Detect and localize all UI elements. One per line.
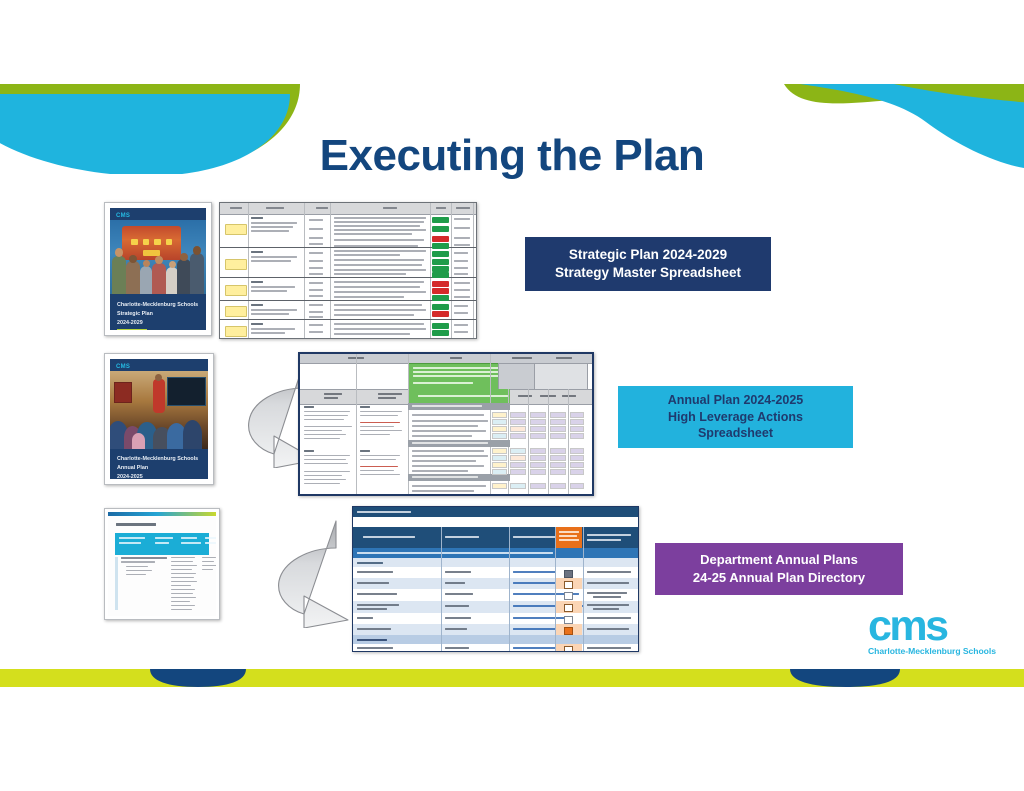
callout-department-plans: Department Annual Plans 24-25 Annual Pla… bbox=[655, 543, 903, 595]
cms-logo-tagline: Charlotte-Mecklenburg Schools bbox=[868, 646, 1008, 656]
callout-department-line1: Department Annual Plans bbox=[693, 551, 865, 569]
cover-photo-classroom bbox=[110, 371, 208, 449]
arrow-annual-to-directory bbox=[258, 518, 364, 628]
sheet2-green-header bbox=[408, 363, 510, 391]
directory-doc-table-header bbox=[115, 533, 209, 555]
strategy-master-spreadsheet bbox=[219, 202, 477, 339]
cms-logo: cms Charlotte-Mecklenburg Schools bbox=[868, 608, 1008, 662]
callout-annual-line1: Annual Plan 2024-2025 bbox=[668, 392, 803, 409]
directory-checkbox-icon[interactable] bbox=[564, 604, 573, 612]
slide-title: Executing the Plan bbox=[0, 131, 1024, 181]
cms-logo-wordmark: cms bbox=[868, 608, 1008, 645]
callout-strategic-line2: Strategy Master Spreadsheet bbox=[555, 264, 741, 282]
slide-canvas: Executing the Plan bbox=[0, 0, 1024, 791]
callout-annual-plan: Annual Plan 2024-2025 High Leverage Acti… bbox=[618, 386, 853, 448]
directory-table-row[interactable] bbox=[353, 644, 638, 652]
directory-checkbox-icon[interactable] bbox=[564, 616, 573, 624]
directory-checkbox-icon[interactable] bbox=[564, 581, 573, 589]
directory-column-header bbox=[353, 527, 638, 548]
callout-annual-line3: Spreadsheet bbox=[668, 425, 803, 442]
callout-annual-line2: High Leverage Actions bbox=[668, 409, 803, 426]
callout-strategic-plan: Strategic Plan 2024-2029 Strategy Master… bbox=[525, 237, 771, 291]
directory-highlight-column-header bbox=[556, 527, 582, 548]
callout-department-line2: 24-25 Annual Plan Directory bbox=[693, 569, 865, 587]
annual-plan-directory-table bbox=[352, 506, 639, 652]
sheet1-tag bbox=[225, 306, 247, 317]
strategic-plan-cover: CMS Charlotte-Mecklenburg Schools Strate… bbox=[104, 202, 212, 336]
photo-mural-background bbox=[110, 220, 206, 294]
directory-checkbox-icon[interactable] bbox=[564, 646, 573, 653]
cover-years-annual: 2024-2025 bbox=[117, 472, 202, 479]
directory-section-header bbox=[353, 635, 638, 644]
directory-doc-page bbox=[108, 512, 216, 616]
sheet1-tag bbox=[225, 285, 247, 296]
photo-classroom-background bbox=[110, 371, 208, 449]
directory-checkbox-icon[interactable] bbox=[564, 592, 573, 600]
decoration-bottom-band bbox=[0, 663, 1024, 693]
directory-checkbox-icon[interactable] bbox=[564, 570, 573, 578]
directory-subsection-header bbox=[353, 558, 638, 567]
cover-accent-rule-strategic bbox=[117, 329, 147, 330]
sheet1-tag bbox=[225, 326, 247, 337]
sheet1-header-row bbox=[220, 203, 476, 215]
cover-photo-mural bbox=[110, 220, 206, 294]
annual-plan-cover: CMS Charlotte-Mecklenburg Schools Annual… bbox=[104, 353, 214, 485]
annual-plan-directory-doc bbox=[104, 508, 220, 620]
high-leverage-actions-spreadsheet bbox=[298, 352, 594, 496]
cover-inner-strategic: CMS Charlotte-Mecklenburg Schools Strate… bbox=[110, 208, 206, 330]
directory-section-header bbox=[353, 548, 638, 558]
cover-years-strategic: 2024-2029 bbox=[117, 318, 200, 328]
cover-inner-annual: CMS Charlotte-Mecklenburg Schools Annual… bbox=[110, 359, 208, 479]
sheet1-tag bbox=[225, 259, 247, 270]
directory-checkbox-icon[interactable] bbox=[564, 627, 573, 635]
callout-strategic-line1: Strategic Plan 2024-2029 bbox=[555, 246, 741, 264]
cms-mini-logo-annual: CMS bbox=[116, 364, 130, 370]
sheet1-tag bbox=[225, 224, 247, 235]
cms-mini-logo-strategic: CMS bbox=[116, 213, 130, 219]
directory-doc-gradient-bar bbox=[108, 512, 216, 516]
